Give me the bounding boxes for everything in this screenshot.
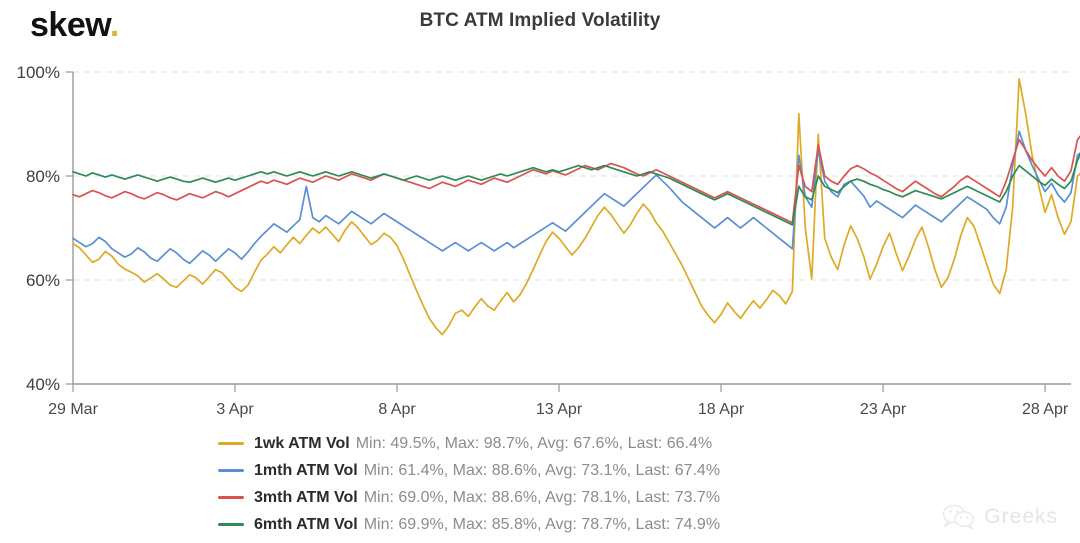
wechat-icon — [942, 503, 976, 531]
chart-legend: 1wk ATM VolMin: 49.5%, Max: 98.7%, Avg: … — [218, 430, 858, 538]
legend-item[interactable]: 6mth ATM VolMin: 69.9%, Max: 85.8%, Avg:… — [218, 511, 858, 538]
series-line-1wk — [73, 79, 1080, 335]
legend-item[interactable]: 1wk ATM VolMin: 49.5%, Max: 98.7%, Avg: … — [218, 430, 858, 457]
x-axis-tick-label: 13 Apr — [536, 401, 583, 418]
legend-series-stats: Min: 61.4%, Max: 88.6%, Avg: 73.1%, Last… — [364, 462, 720, 480]
legend-color-swatch — [218, 523, 244, 526]
legend-series-stats: Min: 69.9%, Max: 85.8%, Avg: 78.7%, Last… — [364, 516, 720, 534]
y-axis-tick-label: 80% — [26, 167, 60, 186]
legend-series-name: 3mth ATM Vol — [254, 489, 358, 507]
legend-color-swatch — [218, 469, 244, 472]
legend-item[interactable]: 1mth ATM VolMin: 61.4%, Max: 88.6%, Avg:… — [218, 457, 858, 484]
x-axis-tick-label: 3 Apr — [216, 401, 254, 418]
y-axis-tick-label: 60% — [26, 271, 60, 290]
x-axis-tick-label: 23 Apr — [860, 401, 907, 418]
legend-color-swatch — [218, 442, 244, 445]
y-axis-tick-label: 40% — [26, 375, 60, 394]
chart-plot-area: 40%60%80%100%29 Mar3 Apr8 Apr13 Apr18 Ap… — [0, 0, 1080, 430]
legend-series-stats: Min: 49.5%, Max: 98.7%, Avg: 67.6%, Last… — [356, 435, 712, 453]
x-axis-tick-label: 8 Apr — [378, 401, 416, 418]
x-axis-tick-label: 28 Apr — [1022, 401, 1069, 418]
legend-series-name: 6mth ATM Vol — [254, 516, 358, 534]
series-line-3mth — [73, 131, 1080, 223]
legend-series-name: 1mth ATM Vol — [254, 462, 358, 480]
series-line-1mth — [73, 131, 1080, 263]
x-axis-tick-label: 18 Apr — [698, 401, 745, 418]
implied-volatility-line-chart: 40%60%80%100%29 Mar3 Apr8 Apr13 Apr18 Ap… — [0, 0, 1080, 430]
legend-item[interactable]: 3mth ATM VolMin: 69.0%, Max: 88.6%, Avg:… — [218, 484, 858, 511]
legend-color-swatch — [218, 496, 244, 499]
legend-series-name: 1wk ATM Vol — [254, 435, 350, 453]
y-axis-tick-label: 100% — [17, 63, 60, 82]
watermark-label: Greeks — [984, 505, 1058, 529]
legend-series-stats: Min: 69.0%, Max: 88.6%, Avg: 78.1%, Last… — [364, 489, 720, 507]
watermark: Greeks — [942, 503, 1058, 531]
x-axis-tick-label: 29 Mar — [48, 401, 98, 418]
